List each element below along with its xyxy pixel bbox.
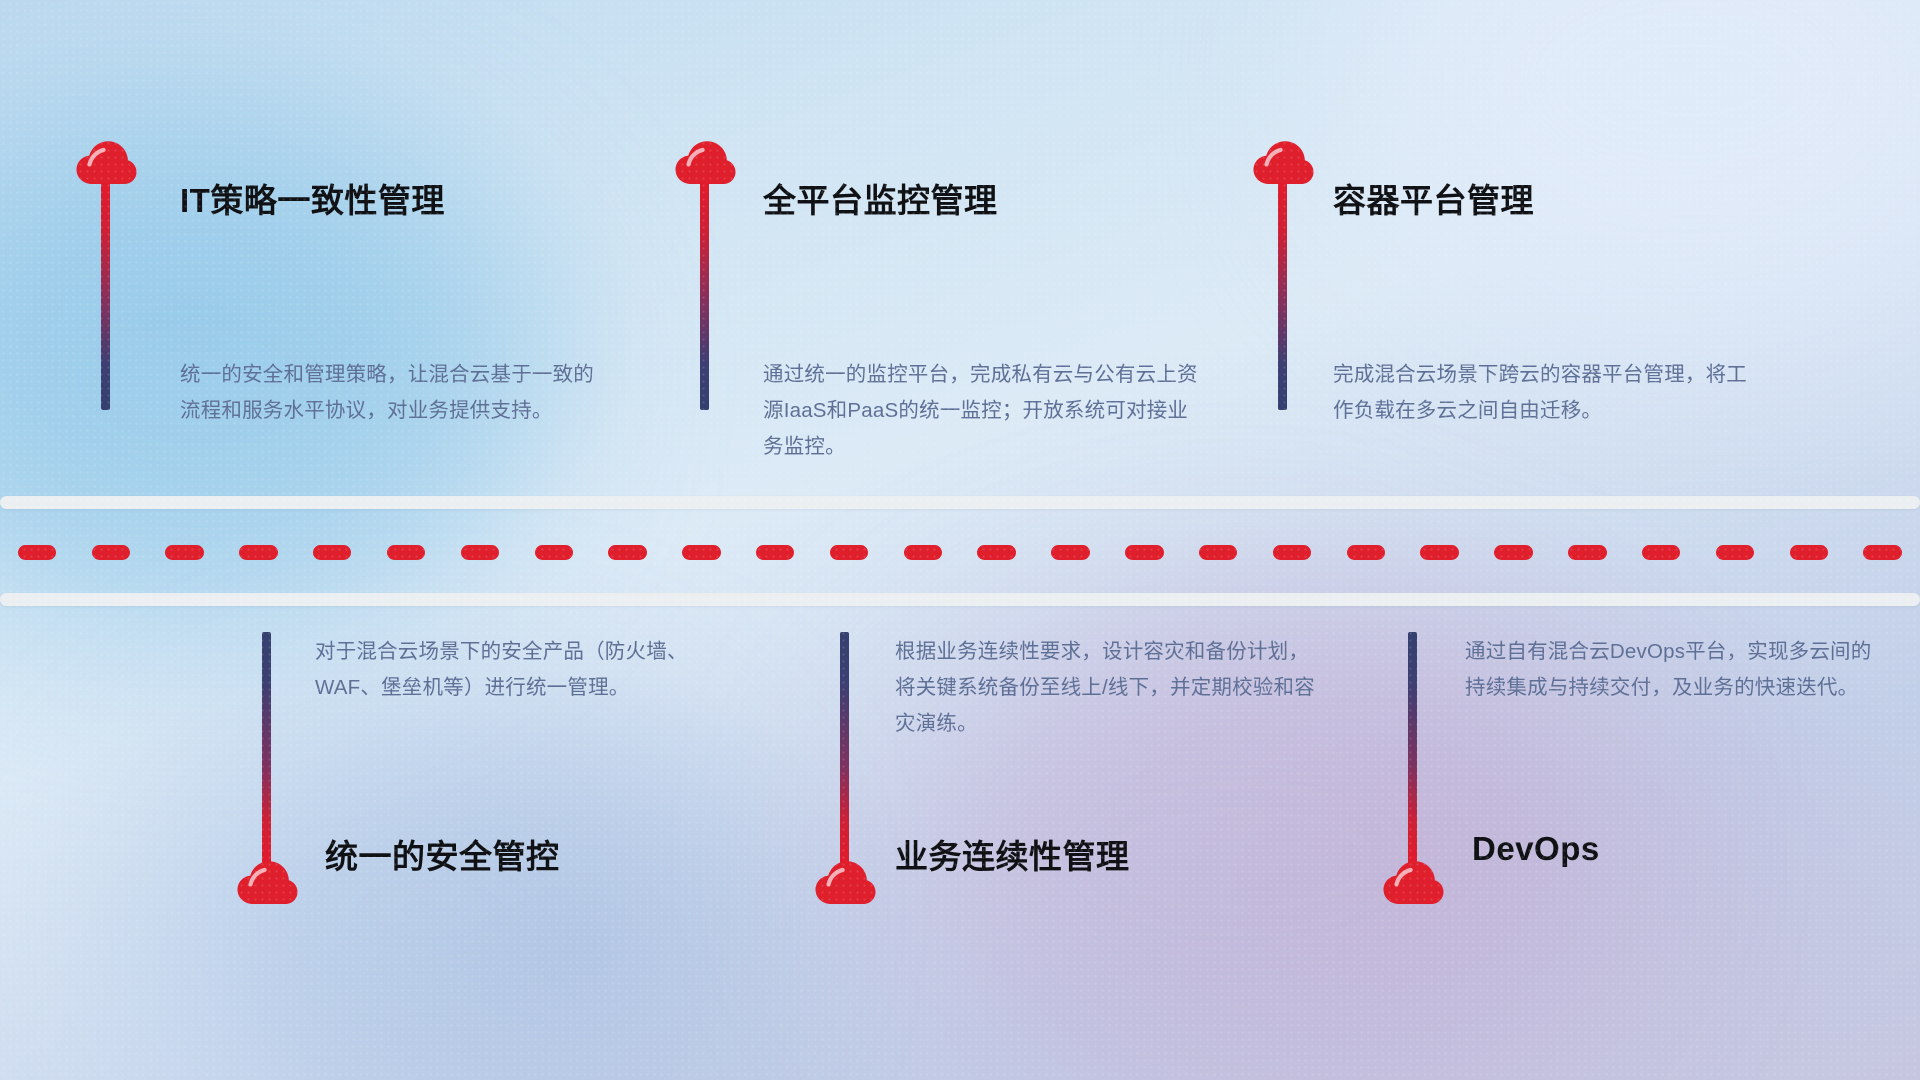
divider-dash (904, 545, 942, 560)
cloud-pin-icon (1252, 140, 1314, 186)
card-body: 根据业务连续性要求，设计容灾和备份计划，将关键系统备份至线上/线下，并定期校验和… (895, 634, 1325, 742)
divider-dash (535, 545, 573, 560)
card-body: 统一的安全和管理策略，让混合云基于一致的流程和服务水平协议，对业务提供支持。 (180, 357, 600, 429)
divider-dash (608, 545, 646, 560)
card-body: 通过自有混合云DevOps平台，实现多云间的持续集成与持续交付，及业务的快速迭代… (1465, 634, 1875, 706)
stem-line (101, 182, 110, 410)
stem-line (262, 632, 271, 864)
card-body: 通过统一的监控平台，完成私有云与公有云上资源IaaS和PaaS的统一监控；开放系… (763, 357, 1203, 465)
card-body: 对于混合云场景下的安全产品（防火墙、WAF、堡垒机等）进行统一管理。 (315, 634, 745, 706)
divider-dash (1642, 545, 1680, 560)
divider-band-bottom (0, 593, 1920, 606)
divider-dash (92, 545, 130, 560)
stem-line (840, 632, 849, 864)
divider-dash (977, 545, 1015, 560)
divider-dash (1347, 545, 1385, 560)
card-heading: 统一的安全管控 (325, 830, 560, 878)
divider-dash (682, 545, 720, 560)
divider-band-top (0, 496, 1920, 509)
divider-dashes (0, 544, 1920, 560)
card-heading: 全平台监控管理 (763, 174, 998, 222)
card-body: 完成混合云场景下跨云的容器平台管理，将工作负载在多云之间自由迁移。 (1333, 357, 1753, 429)
divider-dash (165, 545, 203, 560)
divider-dash (1716, 545, 1754, 560)
cloud-pin-icon (236, 860, 298, 906)
divider-dash (1273, 545, 1311, 560)
stem-line (1278, 182, 1287, 410)
card-heading: 业务连续性管理 (895, 830, 1130, 878)
background-blob-top-right (1340, 0, 1920, 340)
divider-dash (830, 545, 868, 560)
divider-dash (1125, 545, 1163, 560)
divider-dash (18, 545, 56, 560)
background-blob-bottom-left (120, 700, 740, 1080)
divider-dash (1051, 545, 1089, 560)
road-divider (0, 496, 1920, 606)
cloud-pin-icon (814, 860, 876, 906)
divider-dash (239, 545, 277, 560)
divider-dash (461, 545, 499, 560)
cloud-pin-icon (674, 140, 736, 186)
stem-line (700, 182, 709, 410)
divider-dash (1790, 545, 1828, 560)
divider-dash (1494, 545, 1532, 560)
card-heading: 容器平台管理 (1333, 174, 1534, 222)
divider-dash (756, 545, 794, 560)
infographic-canvas: IT策略一致性管理 统一的安全和管理策略，让混合云基于一致的流程和服务水平协议，… (0, 0, 1920, 1080)
cloud-pin-icon (75, 140, 137, 186)
cloud-pin-icon (1382, 860, 1444, 906)
stem-line (1408, 632, 1417, 864)
card-heading: IT策略一致性管理 (180, 174, 445, 222)
card-heading: DevOps (1472, 830, 1600, 868)
divider-dash (313, 545, 351, 560)
divider-dash (1199, 545, 1237, 560)
divider-dash (387, 545, 425, 560)
divider-dash (1420, 545, 1458, 560)
divider-dash (1568, 545, 1606, 560)
divider-dash (1863, 545, 1901, 560)
